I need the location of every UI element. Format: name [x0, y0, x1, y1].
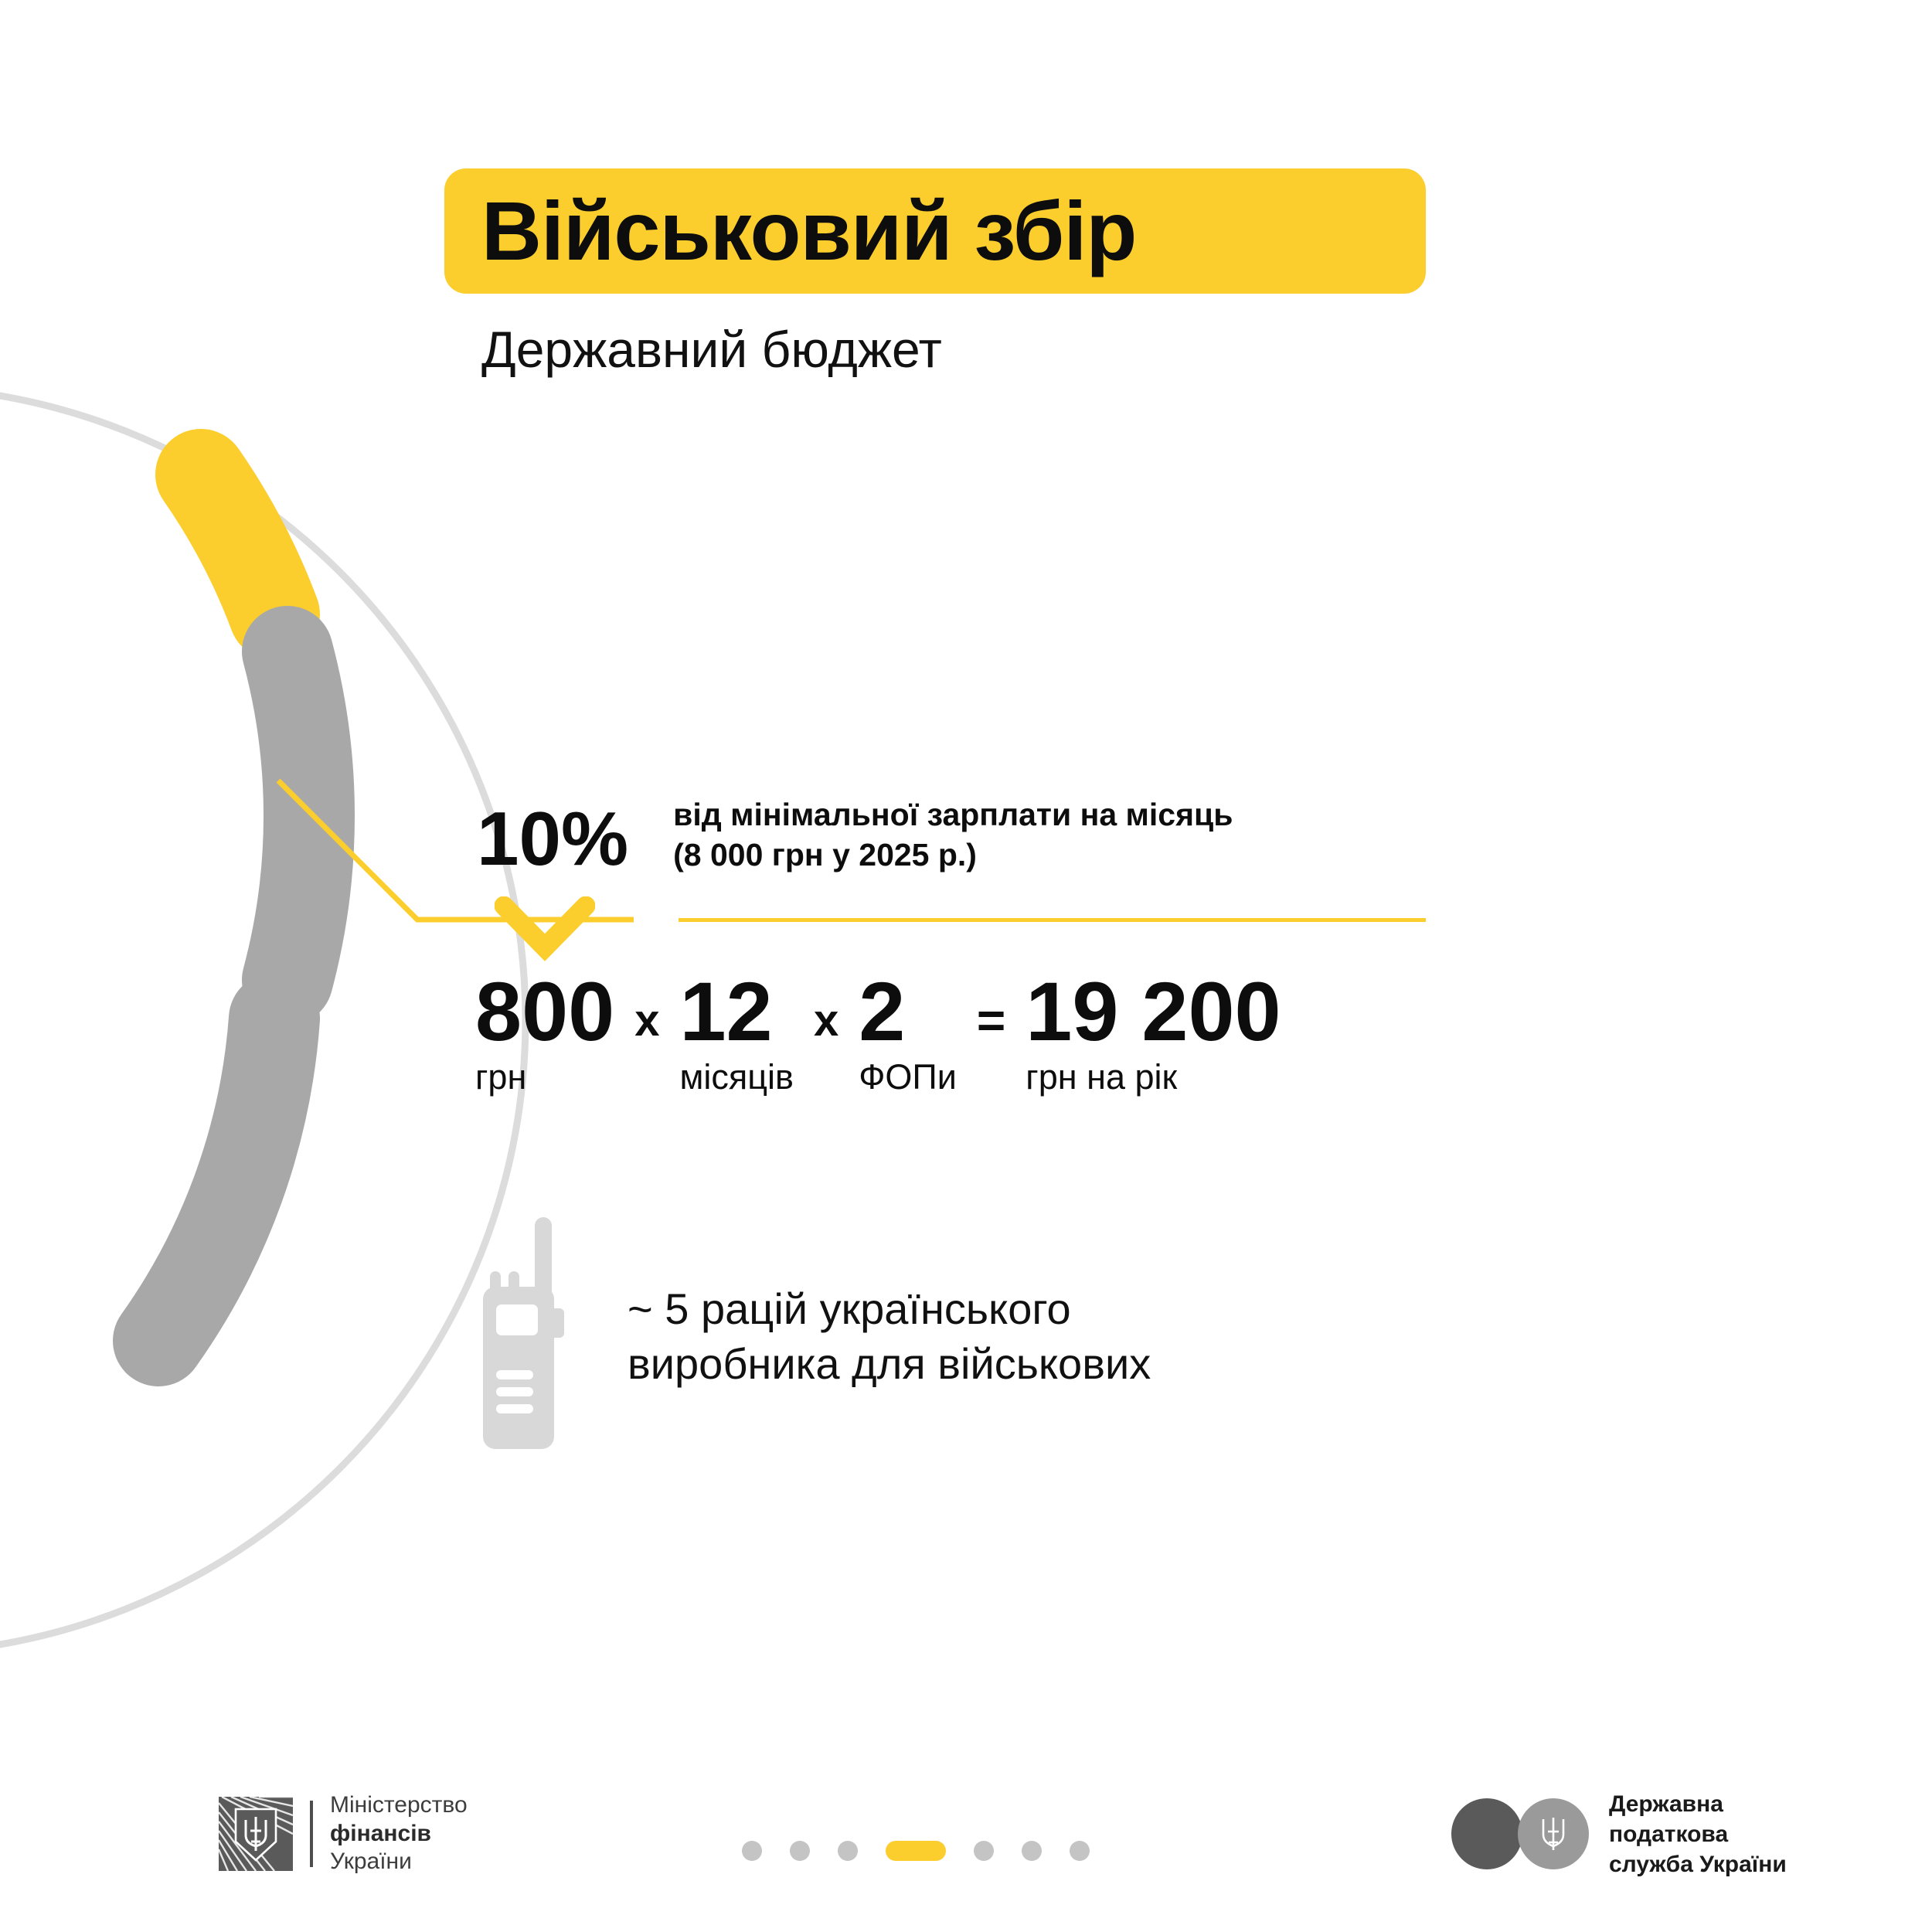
page-subtitle: Державний бюджет: [481, 321, 1426, 378]
formula-value-months: 12: [679, 972, 772, 1052]
pagination-dot-3[interactable]: [838, 1841, 858, 1861]
minfin-line-3: України: [330, 1848, 468, 1876]
formula-unit-total: грн на рік: [1026, 1060, 1177, 1094]
donut-outline-circle: [0, 386, 526, 1654]
donut-segment-gray-2: [158, 1019, 274, 1341]
formula-value-fops: 2: [859, 972, 905, 1052]
page-title: Військовий збір: [481, 189, 1136, 273]
rate-row: 10% від мінімальної зарплати на місяць (…: [477, 794, 1233, 876]
pagination-dot-4-active[interactable]: [886, 1841, 946, 1861]
rate-note: від мінімальної зарплати на місяць (8 00…: [673, 794, 1233, 876]
header: Військовий збір Державний бюджет: [444, 168, 1426, 378]
walkie-talkie-radio-icon: [479, 1217, 580, 1457]
rate-note-line-2: (8 000 грн у 2025 р.): [673, 835, 1233, 875]
horizontal-divider: [679, 918, 1426, 922]
formula-operator-multiply-1: x: [614, 972, 679, 1043]
logo-divider: [310, 1801, 313, 1867]
equivalence-text: ~ 5 рацій українського виробника для вій…: [628, 1282, 1151, 1391]
formula-value-base: 800: [475, 972, 614, 1052]
pagination-dot-2[interactable]: [790, 1841, 810, 1861]
formula-operator-equals: =: [957, 972, 1026, 1045]
equivalence-row: ~ 5 рацій українського виробника для вій…: [479, 1217, 1151, 1457]
formula-row: 800 грн x 12 місяців x 2 ФОПи = 19 200 г…: [475, 972, 1281, 1094]
ukraine-trident-emblem-icon: [219, 1797, 293, 1871]
chevron-down-icon: [495, 896, 595, 964]
minfin-line-2: фінансів: [330, 1820, 468, 1849]
donut-segment-gray-1: [287, 651, 309, 980]
pagination-dot-5[interactable]: [974, 1841, 994, 1861]
ministry-of-finance-logo: Міністерство фінансів України: [219, 1791, 468, 1876]
state-tax-service-wordmark: Державна податкова служба України: [1609, 1789, 1787, 1879]
tax-circle-dark: [1451, 1798, 1522, 1869]
minfin-line-1: Міністерство: [330, 1791, 468, 1820]
title-pill: Військовий збір: [444, 168, 1426, 294]
pagination-dot-7[interactable]: [1070, 1841, 1090, 1861]
tax-service-emblem: [1451, 1798, 1589, 1871]
formula-term-months: 12 місяців: [679, 972, 793, 1094]
ukraine-trident-emblem-icon: [1537, 1813, 1570, 1855]
pagination-dots[interactable]: [742, 1841, 1090, 1861]
formula-term-total: 19 200 грн на рік: [1026, 972, 1281, 1094]
formula-unit-fops: ФОПи: [859, 1060, 957, 1094]
donut-segment-highlight: [201, 474, 274, 614]
pagination-dot-6[interactable]: [1022, 1841, 1042, 1861]
state-tax-service-logo: Державна податкова служба України: [1451, 1789, 1787, 1879]
formula-unit-base: грн: [475, 1060, 526, 1094]
formula-value-total: 19 200: [1026, 972, 1281, 1052]
tax-circle-light: [1518, 1798, 1589, 1869]
formula-unit-months: місяців: [679, 1060, 793, 1094]
formula-term-base: 800 грн: [475, 972, 614, 1094]
rate-note-line-1: від мінімальної зарплати на місяць: [673, 794, 1233, 835]
divider-row: [495, 889, 1426, 974]
rate-percent-value: 10%: [477, 794, 628, 876]
formula-operator-multiply-2: x: [794, 972, 859, 1043]
pagination-dot-1[interactable]: [742, 1841, 762, 1861]
formula-term-fops: 2 ФОПи: [859, 972, 957, 1094]
ministry-of-finance-wordmark: Міністерство фінансів України: [330, 1791, 468, 1876]
